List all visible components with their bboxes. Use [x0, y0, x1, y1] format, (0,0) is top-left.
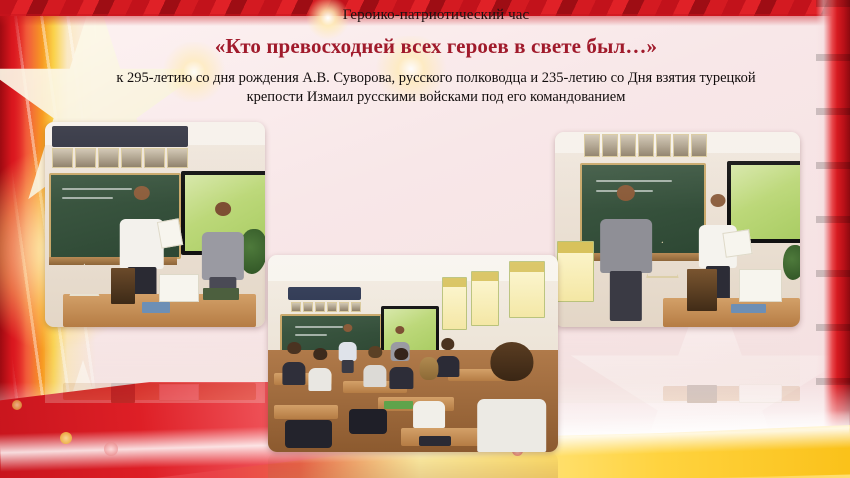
photo-left[interactable] [45, 122, 265, 327]
photo-right[interactable] [555, 132, 800, 327]
wall-poster-2 [471, 271, 499, 326]
heading-block: Героико-патриотический час «Кто превосхо… [96, 6, 776, 108]
bokeh-dot [12, 400, 22, 410]
portrait-row [291, 302, 361, 312]
photo-right-scene [555, 132, 800, 327]
table-sign [159, 274, 198, 303]
display-book [687, 269, 716, 312]
right-band-streaks [816, 0, 850, 430]
student [283, 342, 306, 385]
student-long-hair [413, 357, 445, 428]
student-foreground [477, 342, 547, 452]
pencil-case [419, 436, 451, 446]
display-book-3 [142, 302, 171, 312]
presenter-at-board [338, 324, 358, 373]
bokeh-dot [104, 442, 118, 456]
wall-poster-1 [442, 277, 467, 330]
page-title: «Кто превосходней всех героев в свете бы… [96, 34, 776, 59]
student [364, 346, 387, 387]
board-header-banner [288, 287, 361, 301]
photo-left-reflection [45, 327, 265, 403]
presentation-slide: Героико-патриотический час «Кто превосхо… [0, 0, 850, 478]
table-sign [739, 269, 783, 302]
display-book-2 [731, 304, 765, 314]
photo-left-scene [45, 122, 265, 327]
presenter-woman [599, 185, 653, 322]
backpack [285, 420, 331, 448]
student-desk [274, 405, 338, 419]
bokeh-dot [60, 432, 72, 444]
display-book [111, 268, 135, 305]
potted-plant [783, 245, 800, 280]
backpack [349, 409, 387, 435]
wall-poster-3 [509, 261, 546, 318]
student [309, 348, 332, 391]
photo-center-scene [268, 255, 558, 452]
board-header-banner [52, 126, 188, 147]
notebook [384, 401, 413, 409]
student [390, 348, 413, 389]
portrait-row [584, 134, 707, 157]
display-book-2 [203, 288, 238, 300]
portrait-row [52, 148, 188, 169]
event-type-label: Героико-патриотический час [96, 6, 776, 25]
wall-poster [557, 241, 593, 302]
photo-right-reflection [555, 327, 800, 403]
held-paper-right [722, 230, 752, 259]
photo-center[interactable] [268, 255, 558, 452]
photo-center-reflection [268, 452, 558, 478]
subtitle-text: к 295-летию со дня рождения А.В. Суворов… [96, 69, 776, 108]
